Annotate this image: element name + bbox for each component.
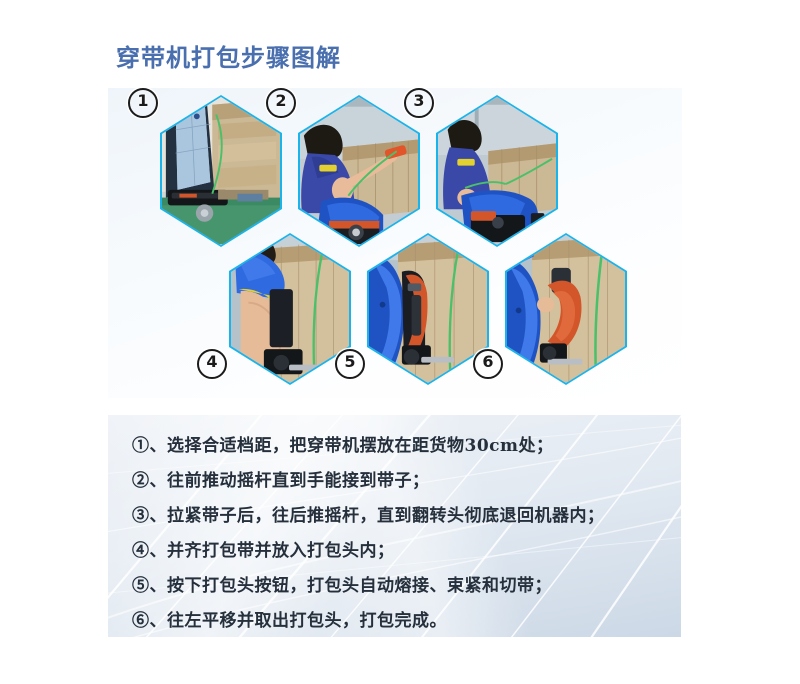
instruction-line-1: ①、选择合适档距，把穿带机摆放在距货物30cm处； bbox=[132, 429, 671, 464]
hexagon-step-gallery: 1 bbox=[108, 88, 682, 398]
instruction-line-4: ④、并齐打包带并放入打包头内； bbox=[132, 534, 671, 569]
hex-step-4[interactable]: 4 bbox=[229, 233, 351, 385]
step-badge-3: 3 bbox=[404, 88, 434, 118]
instruction-line-5: ⑤、按下打包头按钮，打包头自动熔接、束紧和切带； bbox=[132, 569, 671, 604]
instruction-line-2: ②、往前推动摇杆直到手能接到带子； bbox=[132, 464, 671, 499]
photo-pull-strap-icon bbox=[438, 97, 556, 244]
step-badge-4: 4 bbox=[197, 349, 227, 379]
hex-photo-1 bbox=[162, 97, 280, 245]
photo-align-strap-icon bbox=[231, 235, 349, 382]
hex-step-5[interactable]: 5 bbox=[367, 233, 489, 385]
hex-photo-4 bbox=[231, 235, 349, 383]
instruction-line-6: ⑥、往左平移并取出打包头，打包完成。 bbox=[132, 604, 671, 637]
instructions-panel: ①、选择合适档距，把穿带机摆放在距货物30cm处； ②、往前推动摇杆直到手能接到… bbox=[108, 415, 681, 637]
hex-step-1[interactable]: 1 bbox=[160, 95, 282, 247]
hex-photo-2 bbox=[300, 97, 418, 245]
step-badge-5: 5 bbox=[335, 349, 365, 379]
photo-press-button-icon bbox=[369, 235, 487, 382]
step-badge-6: 6 bbox=[473, 349, 503, 379]
hex-step-3[interactable]: 3 bbox=[436, 95, 558, 247]
photo-push-lever-icon bbox=[300, 97, 418, 244]
step-badge-1: 1 bbox=[128, 88, 158, 118]
page-root: 穿带机打包步骤图解 bbox=[0, 0, 800, 684]
hex-step-2[interactable]: 2 bbox=[298, 95, 420, 247]
hex-step-6[interactable]: 6 bbox=[505, 233, 627, 385]
hex-photo-3 bbox=[438, 97, 556, 245]
hex-photo-5 bbox=[369, 235, 487, 383]
photo-remove-head-icon bbox=[507, 235, 625, 382]
hex-photo-6 bbox=[507, 235, 625, 383]
step-badge-2: 2 bbox=[266, 88, 296, 118]
instruction-list: ①、选择合适档距，把穿带机摆放在距货物30cm处； ②、往前推动摇杆直到手能接到… bbox=[132, 429, 671, 637]
instruction-line-3: ③、拉紧带子后，往后推摇杆，直到翻转头彻底退回机器内； bbox=[132, 499, 671, 534]
page-title: 穿带机打包步骤图解 bbox=[116, 38, 341, 73]
photo-machine-placement-icon bbox=[162, 97, 280, 244]
